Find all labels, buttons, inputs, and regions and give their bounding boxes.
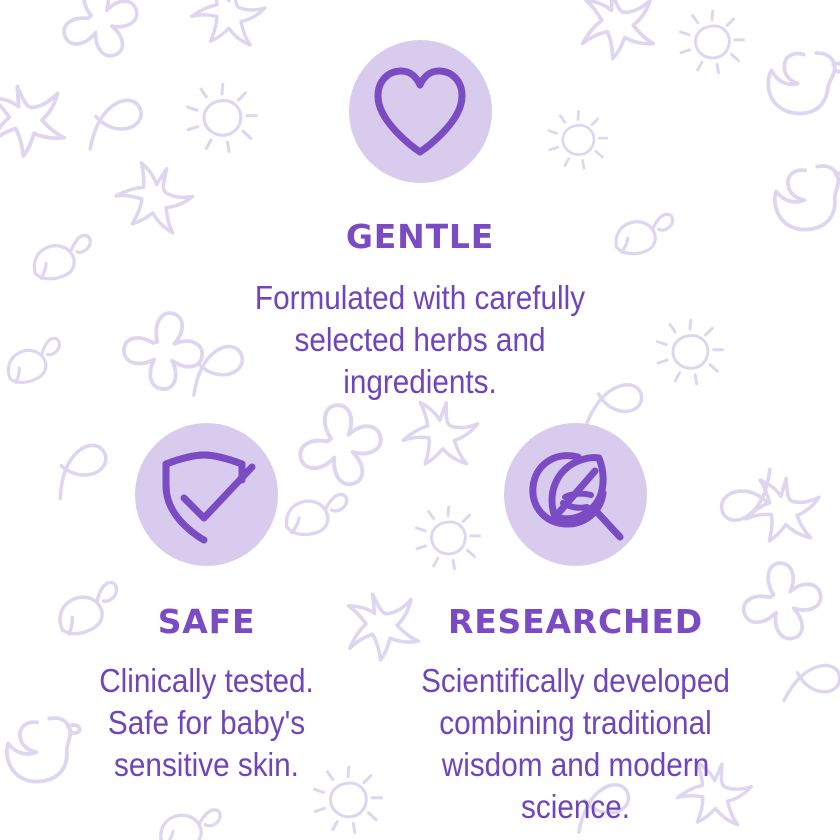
gentle-description: Formulated with carefully selected herbs… [42, 277, 798, 403]
gentle-title: GENTLE [0, 220, 840, 253]
safe-title: SAFE [14, 605, 399, 638]
feature-gentle: GENTLE Formulated with carefully selecte… [0, 40, 840, 403]
gentle-description-line: ingredients. [42, 361, 798, 403]
safe-description-line: Clinically tested. [33, 660, 380, 702]
safe-description-line: sensitive skin. [33, 744, 380, 786]
safe-icon-badge [135, 423, 278, 566]
gentle-icon-badge [349, 40, 492, 183]
researched-description: Scientifically developed combining tradi… [402, 660, 749, 828]
researched-description-line: combining traditional [402, 702, 749, 744]
feature-researched: RESEARCHED Scientifically developed comb… [383, 423, 768, 828]
researched-description-line: wisdom and modern science. [402, 744, 749, 828]
leaf-magnifier-icon [525, 445, 627, 545]
gentle-description-line: Formulated with carefully [42, 277, 798, 319]
shield-check-icon [156, 446, 258, 544]
researched-description-line: Scientifically developed [402, 660, 749, 702]
heart-icon [370, 66, 470, 158]
researched-title: RESEARCHED [383, 605, 768, 638]
features-content: GENTLE Formulated with carefully selecte… [0, 0, 840, 840]
benefits-infographic: GENTLE Formulated with carefully selecte… [0, 0, 840, 840]
safe-description: Clinically tested. Safe for baby's sensi… [33, 660, 380, 786]
safe-description-line: Safe for baby's [33, 702, 380, 744]
researched-icon-badge [504, 423, 647, 566]
gentle-description-line: selected herbs and [42, 319, 798, 361]
feature-safe: SAFE Clinically tested. Safe for baby's … [14, 423, 399, 786]
